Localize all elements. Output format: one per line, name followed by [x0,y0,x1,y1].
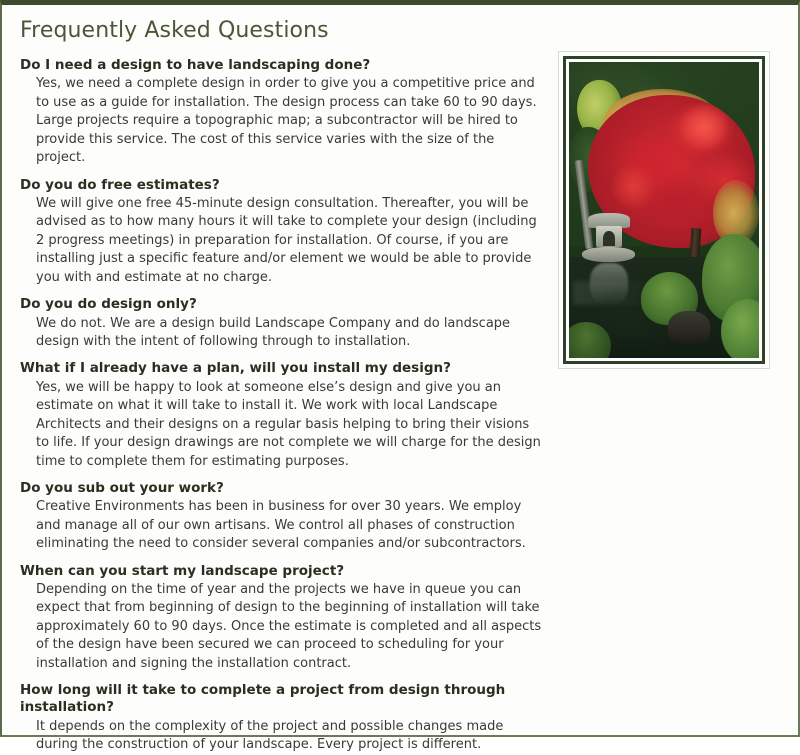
stone-lantern-window [603,231,614,246]
faq-item: What if I already have a plan, will you … [16,360,546,471]
page-title: Frequently Asked Questions [20,19,784,43]
faq-answer: It depends on the complexity of the proj… [36,718,546,755]
stone-lantern-base [582,247,635,262]
faq-item: Do you sub out your work? Creative Envir… [16,480,546,554]
faq-list: Do I need a design to have landscaping d… [16,57,546,754]
japanese-garden-autumn-photo [569,62,759,358]
faq-question: Do you do free estimates? [20,177,546,194]
faq-answer: Creative Environments has been in busine… [36,498,546,553]
photo-mat [563,56,765,364]
faq-answer: We will give one free 45-minute design c… [36,195,546,287]
faq-item: How long will it take to complete a proj… [16,682,546,754]
lantern-reflection [590,263,628,304]
faq-item: Do you do design only? We do not. We are… [16,296,546,351]
faq-answer: We do not. We are a design build Landsca… [36,315,546,352]
faq-question: When can you start my landscape project? [20,563,546,580]
faq-question: Do you sub out your work? [20,480,546,497]
faq-answer: Yes, we will be happy to look at someone… [36,379,546,471]
faq-question: What if I already have a plan, will you … [20,360,546,377]
faq-answer: Yes, we need a complete design in order … [36,75,546,167]
faq-item: Do I need a design to have landscaping d… [16,57,546,168]
faq-question: Do you do design only? [20,296,546,313]
faq-item: When can you start my landscape project?… [16,563,546,674]
faq-answer: Depending on the time of year and the pr… [36,581,546,673]
faq-question: How long will it take to complete a proj… [20,682,546,717]
faq-question: Do I need a design to have landscaping d… [20,57,546,74]
maple-highlight [679,103,728,150]
page-container: Frequently Asked Questions Do I need a d… [0,0,800,737]
photo-frame [558,51,770,369]
maple-highlight [611,163,657,210]
foreground-rock [668,311,710,344]
faq-item: Do you do free estimates? We will give o… [16,177,546,288]
page-content: Frequently Asked Questions Do I need a d… [2,5,798,735]
